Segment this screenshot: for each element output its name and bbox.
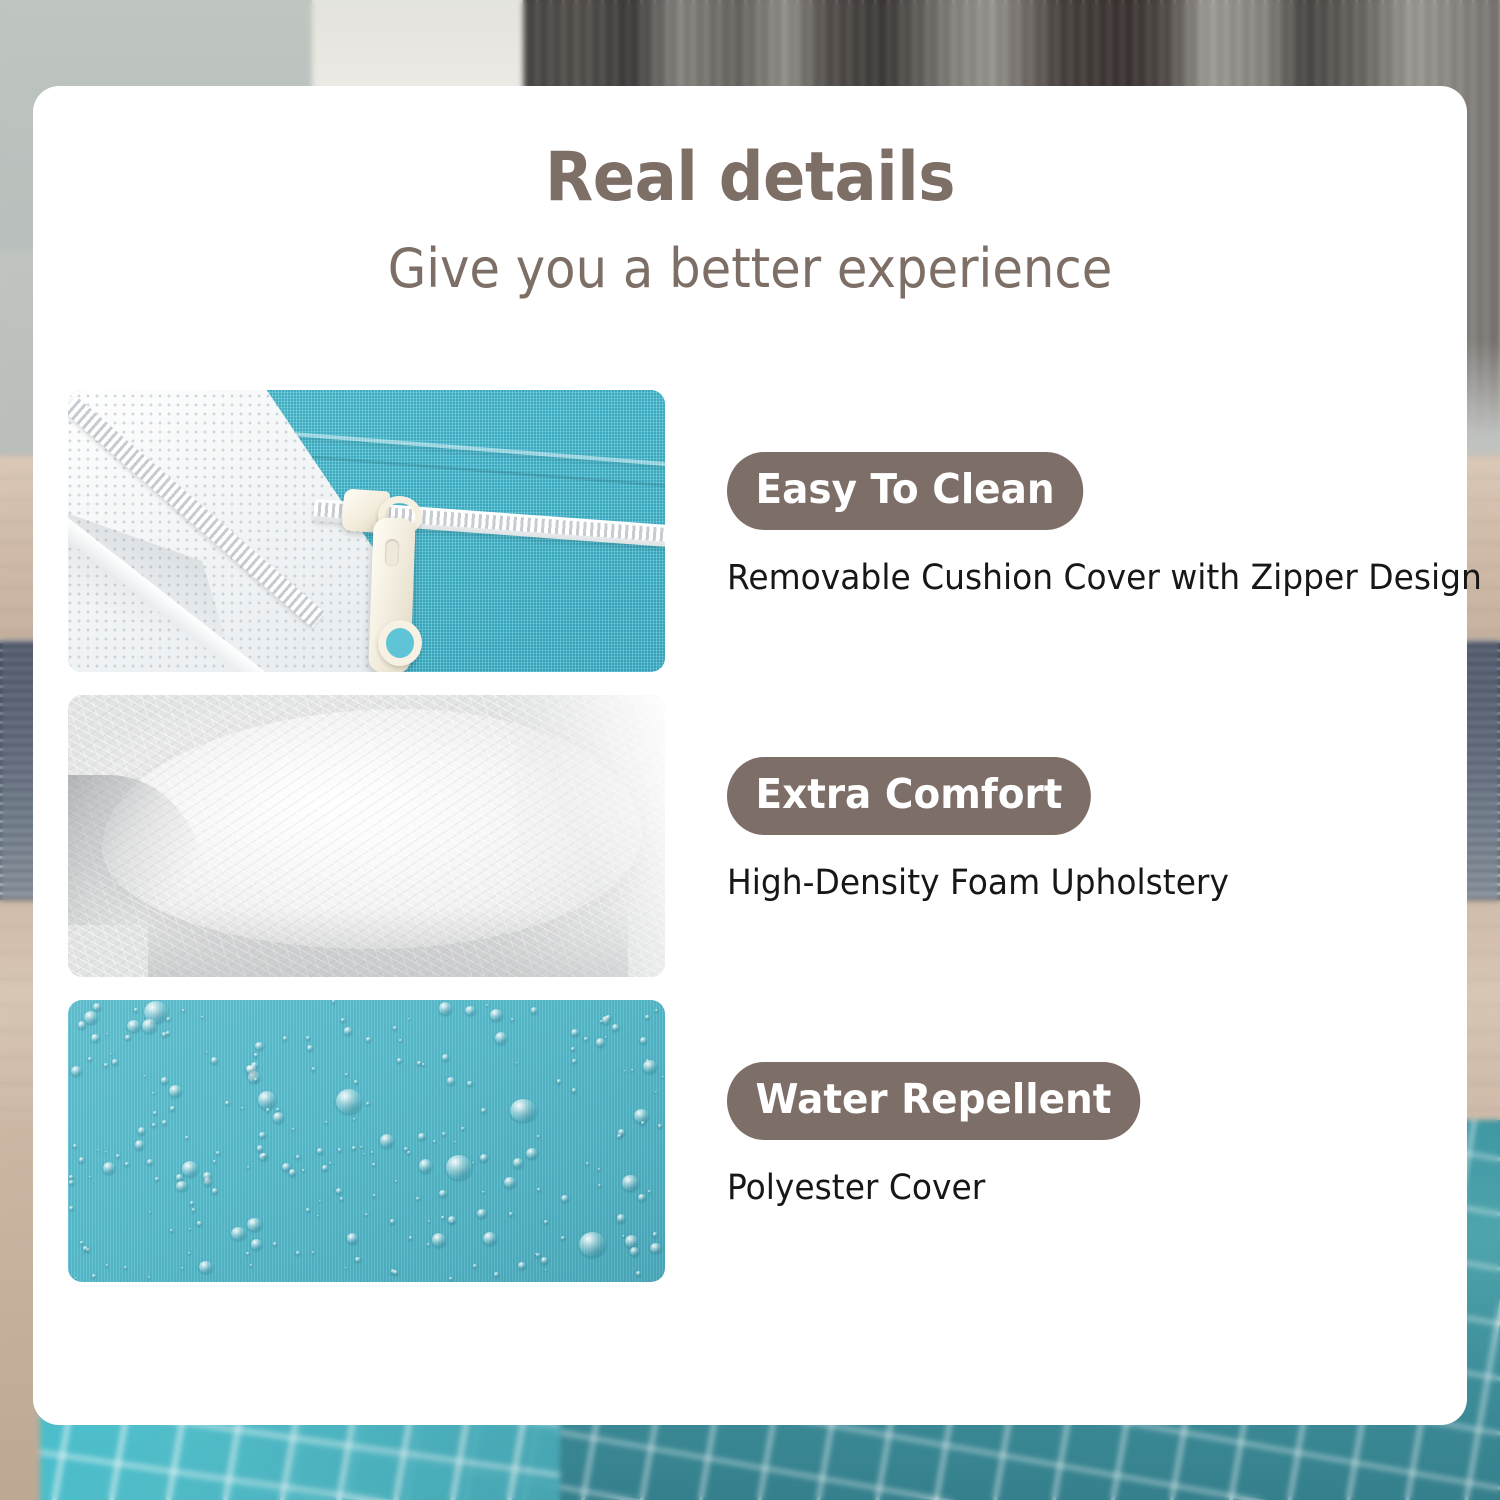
water-droplet [504,1177,515,1188]
water-droplet [135,1140,144,1150]
water-droplet [571,1047,575,1051]
water-droplet [366,1102,370,1106]
water-droplet [579,1232,606,1257]
water-droplet [273,1112,285,1123]
water-droplet [432,1233,447,1247]
water-droplet [225,1101,230,1105]
water-droplet [541,1257,547,1264]
water-droplet [341,1018,346,1022]
foam-right-fold [515,695,665,977]
water-droplet [176,1181,188,1192]
water-droplet [600,1020,603,1023]
water-droplet [162,1120,167,1125]
water-droplet [116,1154,120,1158]
water-droplet [216,1151,220,1155]
feature-text-block: Water Repellent Polyester Cover [727,1000,1467,1209]
water-droplet [199,1261,213,1274]
water-droplet [428,1220,430,1222]
water-droplet [655,1091,657,1093]
water-droplet [409,1236,412,1239]
water-droplet [516,1062,518,1064]
page-title: Real details [90,144,1409,212]
water-droplet [142,1019,157,1033]
water-droplet [332,1000,335,1003]
water-droplet [138,1127,146,1135]
teal-water-repellent-fabric [68,1000,665,1282]
feature-text-block: Extra Comfort High-Density Foam Upholste… [727,695,1467,904]
zipper-pull-slot [385,539,400,567]
water-droplet [352,1146,356,1149]
feature-description: Polyester Cover [727,1167,1423,1209]
water-droplet [526,1148,538,1159]
page-subtitle: Give you a better experience [90,242,1409,296]
water-droplet [124,1266,127,1269]
water-droplet [439,1190,447,1197]
water-droplet [340,1197,344,1201]
water-droplet [197,1221,202,1226]
water-droplet [537,1135,540,1138]
water-droplet [636,1271,641,1276]
content-card: Real details Give you a better experienc… [33,86,1467,1425]
feature-description: Removable Cushion Cover with Zipper Desi… [727,557,1482,599]
water-droplet [572,1059,577,1063]
water-droplet [91,1034,100,1042]
water-droplet [69,1180,74,1184]
heading-block: Real details Give you a better experienc… [33,144,1467,296]
water-droplet [231,1227,246,1240]
status-badge: Water Repellent [727,1062,1140,1140]
water-droplet [586,1162,589,1165]
water-droplet [622,1175,638,1191]
water-droplet [125,1035,131,1041]
water-droplet [254,1053,258,1057]
water-droplet [625,1235,638,1248]
zipper-detail-photo [68,390,665,672]
water-droplet [472,1162,474,1164]
water-droplet [371,1151,374,1154]
water-droplet [345,1267,348,1269]
water-droplet [441,1216,445,1220]
water-droplet [169,1085,182,1098]
water-droplet [380,1134,394,1148]
water-droplet [181,1267,183,1269]
water-droplet [419,1159,432,1173]
water-droplet [347,1233,359,1244]
water-droplet [473,1264,477,1268]
water-droplet [203,1172,211,1181]
feature-row: Extra Comfort High-Density Foam Upholste… [33,695,1467,1000]
water-droplet [257,1145,263,1151]
water-droplet [395,1180,398,1183]
water-droplets-photo [68,1000,665,1282]
water-droplet [390,1219,395,1224]
water-droplet [373,1194,376,1196]
water-droplet [258,1091,277,1109]
water-droplet [317,1148,323,1154]
water-droplet [344,1027,352,1035]
water-droplet [606,1015,611,1020]
water-droplet [170,1106,175,1111]
water-droplet [483,1232,497,1245]
water-droplet [393,1270,398,1275]
water-droplet [336,1089,362,1113]
water-droplet [461,1127,464,1130]
water-droplet [292,1128,294,1130]
foam-fill-photo [68,695,665,977]
water-droplet [213,1160,216,1163]
water-droplet [166,1031,170,1035]
water-droplet [176,1174,183,1181]
water-droplet [152,1123,156,1127]
water-droplet [372,1163,375,1166]
water-droplet [152,1092,154,1094]
water-droplet [84,1011,98,1024]
feature-text-block: Easy To Clean Removable Cushion Cover wi… [727,390,1500,599]
water-droplet [250,1264,253,1267]
water-droplet [166,1017,171,1021]
water-droplet [653,1232,658,1237]
water-droplet [247,1218,262,1232]
water-droplet [638,1194,646,1201]
water-droplet [662,1076,664,1078]
water-droplet [446,1155,471,1180]
water-droplet [69,1175,74,1179]
status-badge: Extra Comfort [727,757,1091,835]
water-droplet [296,1155,300,1159]
water-droplet [312,1067,316,1070]
water-droplet [192,1208,196,1211]
water-droplet [442,1054,449,1061]
water-droplet [106,1264,108,1266]
water-droplet [155,1177,159,1181]
water-droplet [104,1063,109,1067]
feature-row: Water Repellent Polyester Cover [33,1000,1467,1305]
water-droplet [103,1162,115,1174]
water-droplet [296,1251,300,1255]
water-droplet [518,1262,526,1269]
water-droplet [125,1162,129,1166]
water-droplet [584,1037,588,1040]
water-droplet [536,1253,540,1257]
water-droplet [397,1058,402,1062]
water-droplet [153,1111,157,1115]
water-droplet [513,1158,524,1168]
water-droplet [247,1166,250,1168]
water-droplet [366,1037,371,1042]
water-droplet [596,1038,605,1047]
water-droplet [490,1009,503,1021]
water-droplet [190,1201,194,1205]
water-droplet [416,1197,419,1200]
water-droplet [185,1136,189,1140]
water-droplet [439,1002,452,1015]
water-droplet [189,1228,191,1230]
water-droplet [83,1246,88,1251]
water-droplet [88,1057,92,1061]
water-droplet [353,1118,356,1121]
water-droplet [273,1242,277,1246]
feature-row: Easy To Clean Removable Cushion Cover wi… [33,390,1467,695]
water-droplet [73,1144,77,1148]
water-droplet [201,1016,204,1019]
water-droplet [617,1214,625,1223]
status-badge: Easy To Clean [727,452,1083,530]
feature-description: High-Density Foam Upholstery [727,862,1423,904]
water-droplet [69,1206,74,1210]
water-droplet [322,1165,328,1171]
feature-list: Easy To Clean Removable Cushion Cover wi… [33,390,1467,1305]
water-droplet [182,1009,185,1012]
water-droplet [262,1153,266,1157]
water-droplet [422,1063,425,1066]
water-droplet [467,1081,472,1086]
water-droplet [561,1195,569,1202]
water-droplet [306,1036,311,1040]
water-droplet [255,1042,263,1049]
infographic-canvas: Real details Give you a better experienc… [0,0,1500,1500]
water-droplet [276,1108,280,1111]
water-droplet [481,1108,486,1113]
